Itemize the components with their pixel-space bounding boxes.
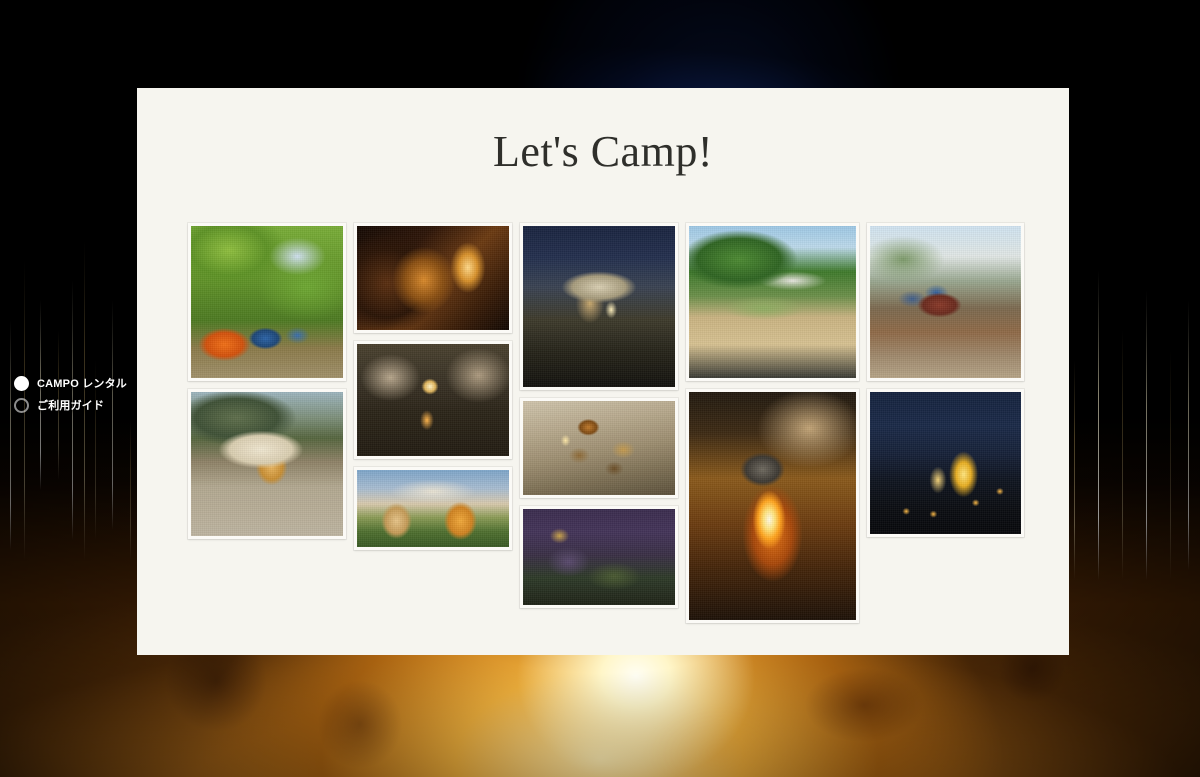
- gallery-column-2: [354, 223, 512, 550]
- page-root: CAMPO レンタル ご利用ガイド Let's Camp!: [0, 0, 1200, 777]
- gallery-photo[interactable]: [354, 467, 512, 550]
- gallery-photo[interactable]: [354, 341, 512, 459]
- photo-image: [191, 392, 343, 536]
- gallery-column-1: [188, 223, 346, 539]
- sidebar-item-usage-guide[interactable]: ご利用ガイド: [14, 394, 154, 416]
- sidebar-item-label: CAMPO レンタル: [37, 375, 127, 391]
- photo-image: [689, 392, 856, 620]
- gallery-photo[interactable]: [188, 223, 346, 381]
- gallery-photo[interactable]: [520, 506, 677, 608]
- gallery-photo[interactable]: [520, 398, 677, 498]
- photo-image: [523, 401, 674, 495]
- gallery-column-4: [686, 223, 859, 623]
- side-nav[interactable]: CAMPO レンタル ご利用ガイド: [14, 372, 154, 416]
- sidebar-item-campo-rental[interactable]: CAMPO レンタル: [14, 372, 154, 394]
- sidebar-item-label: ご利用ガイド: [37, 397, 104, 413]
- photo-image: [689, 226, 856, 378]
- gallery-column-5: [867, 223, 1024, 537]
- photo-gallery: [188, 223, 1024, 623]
- gallery-photo[interactable]: [867, 223, 1024, 381]
- photo-image: [357, 470, 509, 547]
- gallery-photo[interactable]: [686, 223, 859, 381]
- photo-image: [870, 392, 1021, 534]
- gallery-photo[interactable]: [686, 389, 859, 623]
- photo-image: [191, 226, 343, 378]
- content-card: Let's Camp!: [137, 88, 1069, 655]
- gallery-photo[interactable]: [354, 223, 512, 333]
- gallery-column-3: [520, 223, 677, 608]
- gallery-photo[interactable]: [867, 389, 1024, 537]
- gallery-photo[interactable]: [188, 389, 346, 539]
- photo-image: [870, 226, 1021, 378]
- hollow-dot-icon: [14, 398, 29, 413]
- photo-image: [523, 226, 674, 387]
- photo-image: [523, 509, 674, 605]
- filled-dot-icon: [14, 376, 29, 391]
- photo-image: [357, 344, 509, 456]
- photo-image: [357, 226, 509, 330]
- page-title: Let's Camp!: [137, 88, 1069, 174]
- gallery-photo[interactable]: [520, 223, 677, 390]
